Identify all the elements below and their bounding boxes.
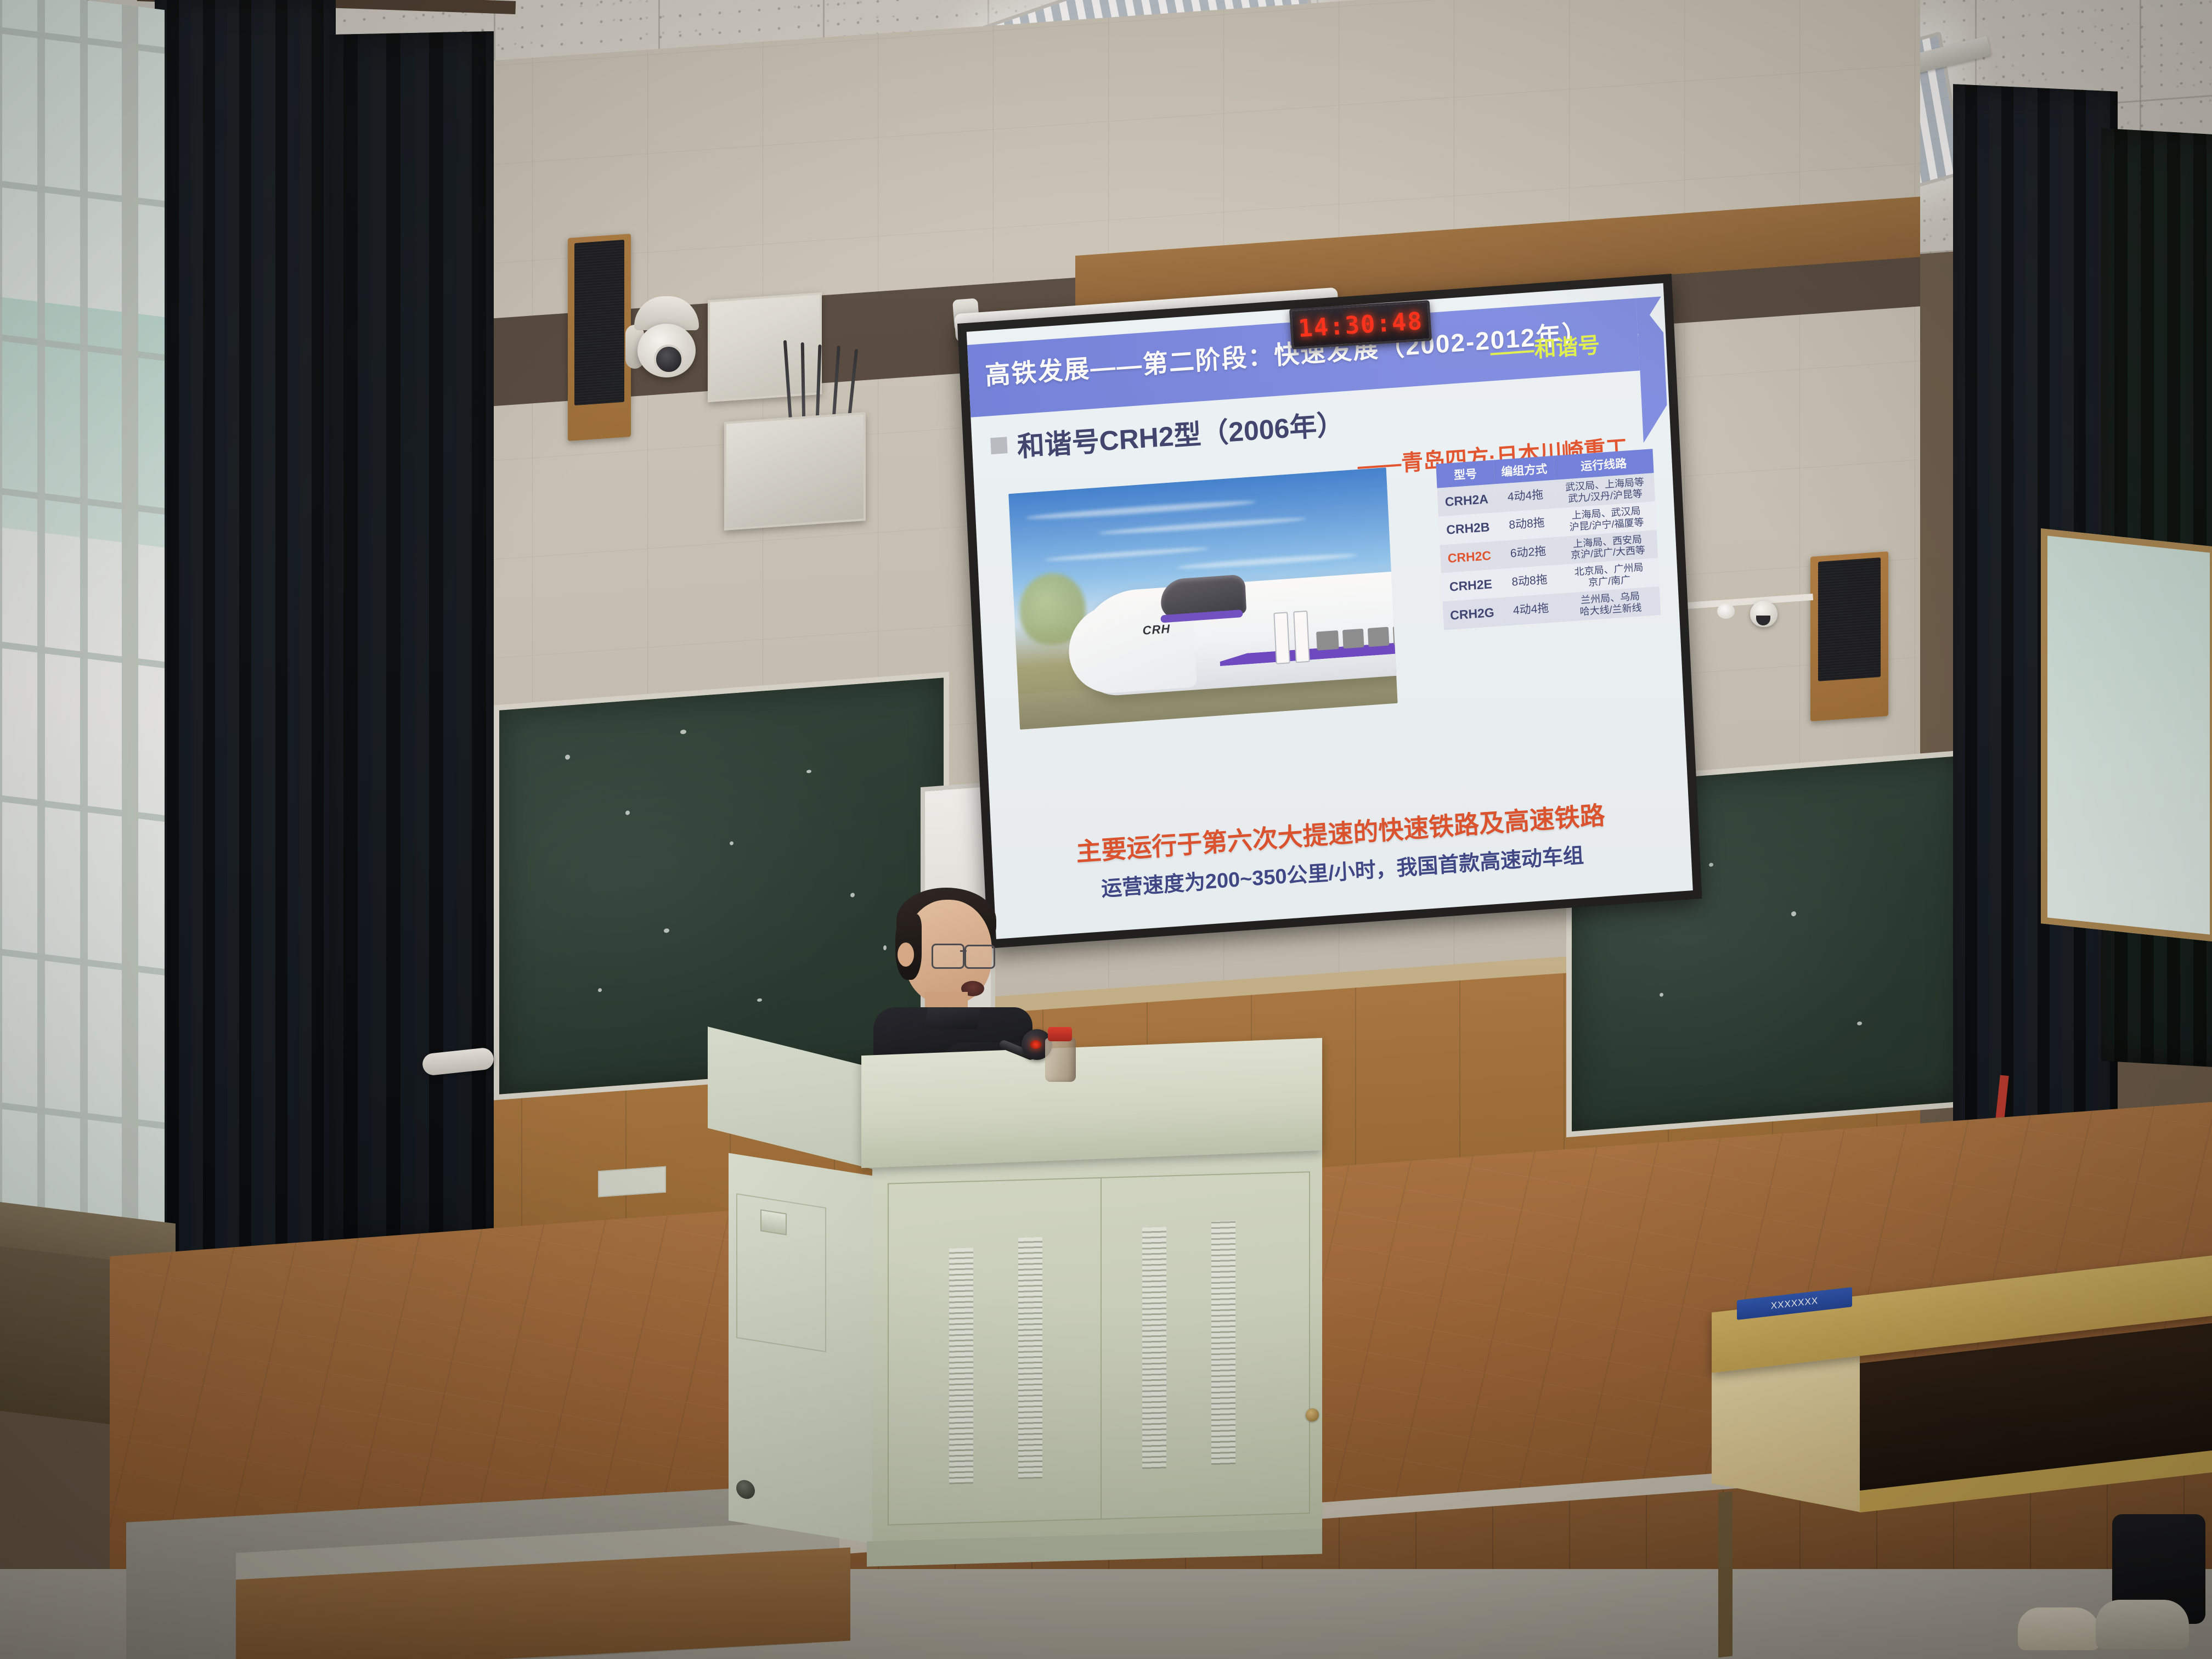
antenna xyxy=(783,340,792,422)
podium-vent xyxy=(1142,1227,1166,1469)
window-right xyxy=(2041,528,2212,942)
lectern-podium xyxy=(708,1047,1322,1568)
student-desk: XXXXXXX xyxy=(1679,1278,2212,1659)
wall-speaker-right xyxy=(1810,551,1888,721)
presenter-collar xyxy=(924,1007,980,1029)
antenna xyxy=(801,342,806,424)
window-frame-vertical xyxy=(122,4,138,1279)
podium-vent xyxy=(1211,1221,1235,1465)
banner-chevron-notch xyxy=(1636,296,1664,370)
presenter-ear xyxy=(898,943,914,967)
train-crh-logo: CRH xyxy=(1142,622,1171,638)
lecture-hall-photo: 高铁发展——第二阶段：快速发展（2002-2012年） ——和谐号 和谐号CRH… xyxy=(0,0,2212,1659)
cell-model: CRH2A xyxy=(1437,484,1496,516)
cell-formation: 8动8拖 xyxy=(1496,508,1558,540)
student-shoe xyxy=(2018,1607,2100,1650)
camera-lens xyxy=(654,345,684,374)
slide-bullet-text: 和谐号CRH2型（2006年） xyxy=(1016,402,1345,465)
cell-formation: 4动4拖 xyxy=(1500,594,1562,626)
podium-side-handle[interactable] xyxy=(760,1209,787,1235)
podium-door-left[interactable] xyxy=(888,1177,1102,1526)
podium-lock[interactable] xyxy=(1306,1408,1319,1422)
led-clock-time: 14:30:48 xyxy=(1297,307,1424,342)
wall-plate xyxy=(598,1166,666,1198)
podium-top-left-wing xyxy=(708,1026,872,1169)
crh2-variant-table: 型号 编组方式 运行线路 CRH2A 4动4拖 武汉局、上海局等武九/汉丹/沪昆… xyxy=(1436,449,1661,630)
glasses-lens-right xyxy=(964,945,995,969)
train-door xyxy=(1293,611,1310,663)
cell-route: 兰州局、乌局哈大线/兰新线 xyxy=(1560,586,1661,622)
emergency-light xyxy=(1717,603,1735,619)
antenna xyxy=(815,345,821,424)
window-mullion-grid xyxy=(0,0,165,1283)
student-shoe xyxy=(2096,1600,2189,1649)
podium-vent xyxy=(949,1248,973,1484)
slide-bullet-marker xyxy=(990,437,1007,454)
cell-formation: 8动8拖 xyxy=(1499,565,1560,597)
table-header-formation: 编组方式 xyxy=(1493,456,1554,484)
train-window xyxy=(1342,629,1364,649)
speaker-grill xyxy=(574,240,624,405)
window-right-frame xyxy=(2041,528,2212,942)
desk-leg xyxy=(1718,1492,1733,1658)
window-left xyxy=(0,0,165,1283)
cell-model: CRH2E xyxy=(1441,569,1500,601)
ptz-camera xyxy=(625,296,708,379)
podium-front xyxy=(872,1150,1322,1553)
train-window xyxy=(1368,627,1390,647)
wall-equipment-cabinet-lower xyxy=(724,412,866,531)
presentation-slide: 高铁发展——第二阶段：快速发展（2002-2012年） ——和谐号 和谐号CRH… xyxy=(967,283,1693,939)
train-window xyxy=(1316,630,1339,651)
slide-banner-tag: ——和谐号 xyxy=(1489,327,1600,366)
microphone-led-indicator xyxy=(1030,1040,1041,1049)
glasses-lens-left xyxy=(932,944,964,969)
wall-speaker-left xyxy=(568,234,631,441)
train-door xyxy=(1273,612,1290,664)
speaker-grill xyxy=(1818,557,1881,681)
projection-screen: 高铁发展——第二阶段：快速发展（2002-2012年） ——和谐号 和谐号CRH… xyxy=(957,274,1702,949)
table-header-model: 型号 xyxy=(1436,460,1494,488)
train-photo: CRH xyxy=(1008,467,1397,730)
podium-worktop xyxy=(861,1038,1322,1168)
cell-model: CRH2B xyxy=(1438,512,1498,545)
water-bottle-cap xyxy=(1048,1027,1072,1041)
cell-model: CRH2G xyxy=(1443,597,1502,630)
train-window xyxy=(1393,625,1398,645)
podium-door-right[interactable] xyxy=(1101,1171,1310,1520)
podium-vent xyxy=(1018,1237,1042,1479)
cell-model: CRH2C xyxy=(1440,541,1499,573)
cell-formation: 4动4拖 xyxy=(1495,480,1556,512)
antenna xyxy=(832,346,840,424)
cell-formation: 6动2拖 xyxy=(1498,537,1559,569)
water-bottle xyxy=(1045,1038,1076,1082)
